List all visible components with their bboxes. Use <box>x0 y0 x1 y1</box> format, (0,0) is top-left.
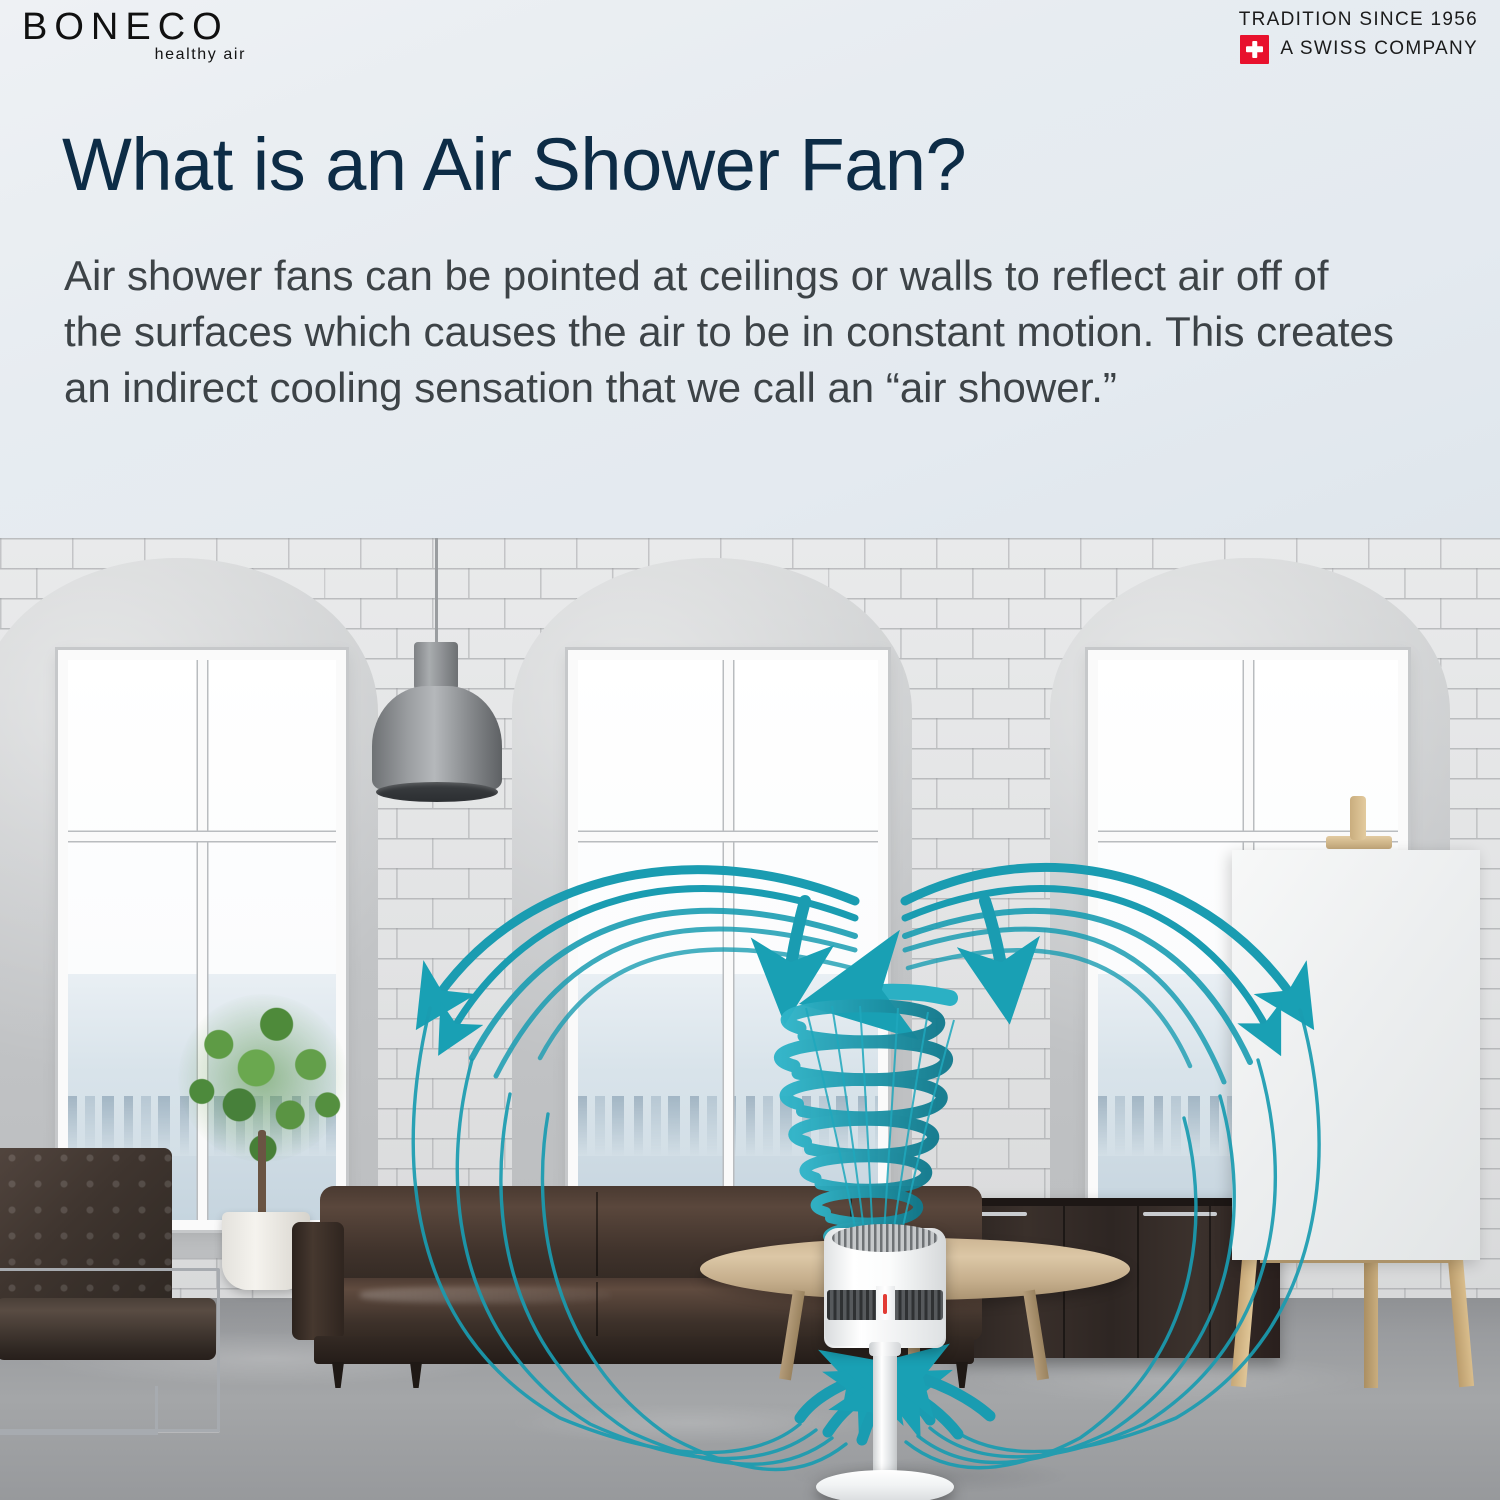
armchair <box>0 1148 266 1438</box>
body-paragraph: Air shower fans can be pointed at ceilin… <box>64 248 1394 416</box>
sideboard-handle <box>1143 1212 1217 1216</box>
lamp-shade <box>372 686 502 790</box>
swiss-flag-icon <box>1240 35 1269 64</box>
air-shower-fan <box>824 1228 946 1500</box>
swiss-credentials: TRADITION SINCE 1956 A SWISS COMPANY <box>1239 8 1478 64</box>
swiss-company-text: A SWISS COMPANY <box>1280 38 1478 60</box>
fan-pole-collar <box>869 1342 901 1356</box>
page-title: What is an Air Shower Fan? <box>62 128 966 202</box>
lamp-rim <box>376 782 498 802</box>
easel <box>1254 828 1500 1388</box>
scene-photo <box>0 538 1500 1500</box>
blank-canvas <box>1232 850 1480 1260</box>
logo-tagline: healthy air <box>155 46 246 64</box>
fan-pole <box>873 1344 897 1480</box>
lamp-neck <box>414 642 458 690</box>
header-panel: BONECO healthy air TRADITION SINCE 1956 … <box>0 0 1500 538</box>
pendant-lamp <box>372 538 502 818</box>
boneco-logo: BONECO healthy air <box>22 8 342 70</box>
fan-base <box>816 1470 954 1500</box>
lamp-cord <box>435 538 438 648</box>
marketing-infographic: BONECO healthy air TRADITION SINCE 1956 … <box>0 0 1500 1500</box>
logo-wordmark: BONECO <box>22 8 342 46</box>
window-center <box>568 650 888 1230</box>
tradition-since-text: TRADITION SINCE 1956 <box>1239 8 1478 32</box>
fan-top-grille <box>832 1224 938 1252</box>
fan-indicator-light <box>883 1294 887 1314</box>
